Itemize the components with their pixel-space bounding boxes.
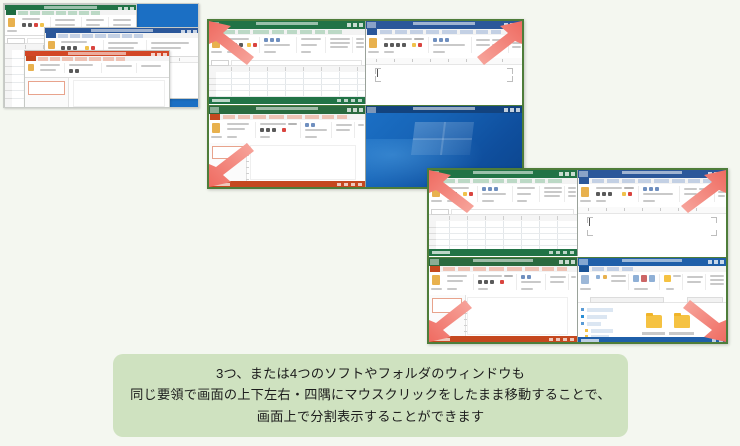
pin-to-quick-access-icon[interactable] (581, 275, 589, 284)
ppt-tab-insert[interactable] (458, 267, 470, 271)
font-name-field[interactable] (478, 275, 502, 277)
slide-editor[interactable] (73, 80, 165, 106)
font-color-icon[interactable] (282, 128, 286, 132)
word-page[interactable] (584, 214, 720, 254)
word-tab-review[interactable] (476, 30, 488, 34)
font-name-field[interactable] (384, 38, 412, 40)
ppt-tab-view[interactable] (557, 267, 567, 271)
screenshot-four-quadrant-explorer[interactable] (427, 168, 728, 344)
excel-tab-home[interactable] (443, 179, 455, 183)
font-color-icon[interactable] (34, 23, 38, 27)
excel-formula-bar[interactable] (209, 58, 365, 66)
insert-cell[interactable] (568, 187, 576, 189)
ppt-tab-transitions[interactable] (489, 267, 504, 271)
format-cell[interactable] (568, 195, 576, 197)
word-tab-design[interactable] (622, 179, 635, 183)
slides-group-label (447, 288, 457, 290)
cell-styles[interactable] (544, 195, 560, 197)
numbered-list-icon[interactable] (311, 123, 315, 127)
copy-path-button[interactable] (611, 275, 626, 277)
explorer-title-text (622, 259, 681, 262)
quadrant-bottom-left-powerpoint[interactable] (429, 257, 578, 343)
powerpoint-workspace[interactable] (429, 295, 577, 336)
view-controls[interactable] (337, 99, 362, 102)
numbered-list-icon[interactable] (527, 275, 531, 279)
excel-window-buttons[interactable] (559, 172, 575, 176)
paste-shortcut-button[interactable] (611, 280, 626, 282)
explorer-ribbon-body[interactable] (578, 272, 726, 294)
margin-corner-top-left (587, 217, 593, 223)
excel-tab-view[interactable] (535, 179, 545, 183)
format-as-table[interactable] (544, 191, 562, 193)
arrange-button[interactable] (336, 129, 350, 131)
explorer-tab-share[interactable] (607, 267, 619, 271)
select-button[interactable] (512, 46, 521, 48)
word-tab-home[interactable] (380, 30, 392, 34)
excel-tab-data[interactable] (287, 30, 297, 34)
bullet-list-icon[interactable] (305, 123, 309, 127)
italic-icon[interactable] (75, 69, 79, 73)
powerpoint-window-buttons[interactable] (559, 260, 575, 264)
bullet-list-icon[interactable] (433, 38, 437, 42)
shapes-gallery[interactable] (550, 276, 566, 278)
font-name-field[interactable] (61, 41, 87, 43)
quick-access-toolbar[interactable] (210, 107, 219, 113)
paste-icon[interactable] (432, 275, 440, 285)
align-center-icon[interactable] (270, 38, 274, 42)
excel-titlebar[interactable] (429, 170, 577, 178)
word-tab-insert[interactable] (395, 30, 407, 34)
folder-icon[interactable] (674, 315, 690, 328)
word-tab-mailings[interactable] (460, 30, 473, 34)
font-name-field[interactable] (260, 123, 286, 125)
quick-access-toolbar[interactable] (367, 22, 376, 28)
breadcrumb-path[interactable] (590, 297, 664, 303)
styles-row-2 (151, 47, 181, 49)
font-color-icon[interactable] (628, 192, 632, 196)
strikethrough-icon[interactable] (402, 43, 406, 47)
multilevel-list-icon[interactable] (445, 38, 449, 42)
shapes-gallery[interactable] (336, 124, 352, 126)
excel-tab-review[interactable] (520, 179, 532, 183)
fill-color-icon[interactable] (247, 43, 251, 47)
word-ruler[interactable] (366, 58, 522, 65)
style-heading2[interactable] (684, 193, 697, 195)
ppt-tab-design[interactable] (473, 267, 486, 271)
desktop-window-buttons[interactable] (504, 108, 520, 112)
delete-cell[interactable] (568, 191, 576, 193)
new-folder-icon[interactable] (664, 275, 671, 282)
alignment-row-2 (264, 44, 290, 46)
paste-icon[interactable] (603, 275, 607, 279)
italic-icon[interactable] (602, 192, 606, 196)
powerpoint-titlebar[interactable] (429, 258, 577, 266)
style-heading1[interactable] (699, 188, 712, 190)
onedrive-icon[interactable] (581, 315, 584, 318)
excel-ribbon-body[interactable] (429, 184, 577, 206)
replace-button[interactable] (512, 42, 521, 44)
underline-icon[interactable] (608, 192, 612, 196)
word-window-buttons[interactable] (708, 172, 724, 176)
ppt-tab-review[interactable] (542, 267, 554, 271)
excel-sheet[interactable] (209, 66, 365, 97)
font-name-field[interactable] (69, 64, 93, 66)
excel-tab-layout[interactable] (253, 30, 269, 34)
file-list-pane[interactable] (628, 303, 726, 337)
style-title[interactable] (699, 193, 712, 195)
word-tab-layout[interactable] (426, 30, 439, 34)
word-ribbon-body[interactable] (578, 184, 726, 206)
powerpoint-status-bar[interactable] (429, 336, 577, 343)
excel-grid[interactable] (436, 221, 577, 249)
font-color-icon[interactable] (418, 43, 422, 47)
excel-tab-insert[interactable] (238, 30, 250, 34)
word-tab-insert[interactable] (607, 179, 619, 183)
explorer-window-buttons[interactable] (708, 260, 724, 264)
style-normal[interactable] (476, 39, 490, 41)
word-tab-home[interactable] (592, 179, 604, 183)
slide-number-label (432, 338, 450, 341)
merge-cells-icon[interactable] (276, 38, 280, 42)
powerpoint-title-text (68, 52, 126, 55)
word-tab-review[interactable] (688, 179, 700, 183)
word-ruler[interactable] (578, 207, 726, 214)
explorer-tab-home[interactable] (592, 267, 604, 271)
formula-input[interactable] (451, 209, 574, 215)
margin-corner-top-right (507, 68, 513, 74)
nav-item-quick-access[interactable] (587, 308, 613, 312)
paragraph-row-2 (433, 44, 465, 46)
excel-tab-home[interactable] (223, 30, 235, 34)
cell-styles[interactable] (330, 46, 348, 48)
slide-thumbnail[interactable] (28, 81, 65, 95)
delete-cell[interactable] (356, 42, 364, 44)
caption-line-2: 同じ要領で画面の上下左右・四隅にマウスクリックをしたまま移動することで、 (130, 387, 611, 404)
this-pc-icon[interactable] (581, 322, 584, 325)
rename-icon[interactable] (649, 275, 655, 282)
underline-icon[interactable] (396, 43, 400, 47)
style-title[interactable] (492, 44, 506, 46)
insert-cell[interactable] (356, 38, 364, 40)
desktop-window-titlebar[interactable] (366, 106, 522, 113)
quick-access-icon[interactable] (581, 308, 584, 311)
paste-icon[interactable] (48, 41, 55, 49)
quadrant-top-left-excel[interactable] (209, 21, 366, 104)
italic-icon[interactable] (484, 280, 488, 284)
quick-access-toolbar[interactable] (430, 171, 439, 177)
font-color-icon[interactable] (253, 43, 257, 47)
paste-icon[interactable] (432, 187, 440, 197)
excel-tab-formulas[interactable] (492, 179, 504, 183)
excel-formula-bar[interactable] (429, 207, 577, 215)
numbered-list-icon[interactable] (649, 187, 653, 191)
underline-icon[interactable] (490, 280, 494, 284)
bold-icon[interactable] (22, 23, 26, 27)
underline-icon[interactable] (272, 128, 276, 132)
font-size-field[interactable] (504, 275, 513, 277)
excel-tab-data[interactable] (507, 179, 517, 183)
bold-icon[interactable] (69, 69, 73, 73)
powerpoint-workspace[interactable] (209, 143, 365, 181)
new-item-button[interactable] (673, 275, 681, 277)
word-page[interactable] (372, 65, 516, 102)
conditional-format[interactable] (544, 187, 562, 189)
slides-row-1 (40, 64, 60, 66)
format-as-table[interactable] (330, 42, 350, 44)
quick-access-toolbar[interactable] (579, 171, 588, 177)
bullet-list-icon[interactable] (643, 187, 647, 191)
ppt-tab-view[interactable] (337, 115, 347, 119)
font-size-field[interactable] (414, 38, 424, 40)
word-window-buttons[interactable] (504, 23, 520, 27)
highlight-icon[interactable] (622, 192, 626, 196)
style-normal[interactable] (684, 188, 697, 190)
ppt-tab-review[interactable] (322, 115, 334, 119)
number-format-field[interactable] (301, 38, 321, 40)
quadrant-top-left-excel[interactable] (429, 170, 578, 256)
view-controls[interactable] (337, 183, 362, 186)
quadrant-bottom-left-powerpoint[interactable] (209, 105, 366, 188)
ppt-tab-animations[interactable] (287, 115, 302, 119)
numbered-list-icon[interactable] (439, 38, 443, 42)
word-document-area[interactable] (366, 58, 522, 104)
paste-icon[interactable] (212, 123, 220, 133)
quadrant-top-right-word[interactable] (578, 170, 726, 256)
arrange-button[interactable] (550, 281, 564, 283)
excel-status-bar[interactable] (429, 249, 577, 256)
find-button[interactable] (571, 276, 576, 278)
quick-access-toolbar[interactable] (430, 259, 439, 265)
layout-button[interactable] (447, 280, 463, 282)
alignment-group-label (264, 51, 276, 53)
slide-thumbnail-pane[interactable] (429, 295, 466, 336)
italic-icon[interactable] (28, 23, 32, 27)
ppt-tab-home[interactable] (223, 115, 235, 119)
view-layout-buttons[interactable] (712, 339, 723, 342)
number-format-field[interactable] (86, 19, 104, 21)
powerpoint-window-buttons[interactable] (347, 108, 363, 112)
bold-icon[interactable] (384, 43, 388, 47)
ppt-tab-slideshow[interactable] (305, 115, 319, 119)
search-input[interactable] (687, 297, 723, 303)
style-heading1[interactable] (492, 39, 506, 41)
conditional-format[interactable] (330, 38, 350, 40)
open-button[interactable] (687, 281, 701, 283)
font-name-field[interactable] (227, 38, 249, 40)
word-tab-view[interactable] (703, 179, 713, 183)
paste-icon[interactable] (8, 18, 15, 27)
caption-box: 3つ、または4つのソフトやフォルダのウィンドウも 同じ要領で画面の上下左右・四隅… (113, 354, 628, 437)
slide-editor[interactable] (250, 145, 356, 181)
explorer-status-bar[interactable] (578, 337, 726, 343)
bullet-list-icon[interactable] (521, 275, 525, 279)
italic-icon[interactable] (453, 192, 457, 196)
slide-thumbnail[interactable] (432, 298, 462, 312)
explorer-tab-view[interactable] (622, 267, 633, 271)
slide-thumbnail-pane[interactable] (209, 143, 247, 181)
desktop-title-text (413, 107, 475, 110)
underline-icon[interactable] (239, 43, 243, 47)
word-titlebar[interactable] (366, 21, 522, 29)
replace-button[interactable] (718, 191, 725, 193)
powerpoint-ribbon-body[interactable] (25, 61, 169, 78)
paste-icon[interactable] (369, 38, 377, 48)
bold-icon[interactable] (227, 43, 231, 47)
name-box[interactable] (211, 60, 229, 66)
new-slide-button[interactable] (227, 123, 249, 125)
delete-icon[interactable] (641, 275, 647, 282)
excel-tab-view[interactable] (315, 30, 325, 34)
paste-icon[interactable] (212, 38, 220, 48)
word-titlebar[interactable] (578, 170, 726, 178)
number-format-field[interactable] (517, 187, 535, 189)
screenshot-overlapping-windows[interactable] (3, 3, 199, 108)
view-controls[interactable] (549, 251, 574, 254)
excel-tab-formulas[interactable] (272, 30, 284, 34)
italic-icon[interactable] (390, 43, 394, 47)
slide-thumbnail[interactable] (212, 146, 244, 159)
folder-icon[interactable] (585, 329, 588, 332)
formula-input[interactable] (231, 60, 362, 66)
word-title-text (622, 171, 681, 174)
excel-tab-review[interactable] (300, 30, 312, 34)
align-left-icon[interactable] (482, 187, 486, 191)
folder-icon[interactable] (646, 315, 662, 328)
excel-ribbon-body[interactable] (209, 35, 365, 57)
nav-item-onedrive[interactable] (587, 315, 607, 319)
name-box[interactable] (7, 38, 25, 44)
word-tab-references[interactable] (442, 30, 457, 34)
excel-tab-layout[interactable] (473, 179, 489, 183)
quick-access-toolbar[interactable] (579, 259, 588, 265)
properties-button[interactable] (687, 276, 703, 278)
new-slide-button[interactable] (447, 275, 467, 277)
quadrant-top-right-word[interactable] (366, 21, 522, 104)
screenshot-four-quadrant-desktop[interactable] (207, 19, 524, 189)
bold-icon[interactable] (447, 192, 451, 196)
number-row-2 (517, 193, 531, 195)
margin-corner-top-left (375, 68, 381, 74)
align-center-icon[interactable] (488, 187, 492, 191)
find-button[interactable] (358, 124, 364, 126)
font-size-field[interactable] (288, 123, 297, 125)
address-bar[interactable] (578, 295, 726, 303)
font-size-field[interactable] (624, 187, 634, 189)
select-button[interactable] (718, 195, 725, 197)
invert-selection-button[interactable] (710, 283, 724, 285)
align-left-icon[interactable] (264, 38, 268, 42)
margin-corner-bottom-left (375, 76, 381, 82)
excel-tab-help[interactable] (328, 30, 342, 34)
paragraph-row-2 (305, 129, 327, 131)
excel-titlebar[interactable] (209, 21, 365, 29)
paste-icon[interactable] (28, 64, 34, 71)
excel-window-buttons[interactable] (347, 23, 363, 27)
nav-item-this-pc[interactable] (587, 322, 601, 326)
italic-icon[interactable] (233, 43, 237, 47)
item-count-label (581, 339, 599, 342)
sheet-tab[interactable] (432, 251, 450, 254)
ppt-tab-insert[interactable] (238, 115, 250, 119)
word-tab-mailings[interactable] (672, 179, 685, 183)
fill-color-icon[interactable] (463, 192, 467, 196)
styles-row-1 (113, 19, 131, 21)
font-name-field[interactable] (596, 187, 622, 189)
word-tab-layout[interactable] (638, 179, 651, 183)
excel-tab-help[interactable] (548, 179, 562, 183)
bold-icon[interactable] (596, 192, 600, 196)
layout-button[interactable] (227, 128, 245, 130)
quadrant-bottom-right-explorer[interactable] (578, 257, 726, 343)
copy-icon[interactable] (596, 275, 600, 279)
powerpoint-status-bar[interactable] (209, 181, 365, 188)
merge-cells-icon[interactable] (494, 187, 498, 191)
clipboard-group-label (368, 51, 379, 53)
multilevel-list-icon[interactable] (655, 187, 659, 191)
excel-sheet[interactable] (429, 215, 577, 249)
name-box[interactable] (431, 209, 449, 215)
quick-access-toolbar[interactable] (210, 22, 219, 28)
word-ribbon-body[interactable] (366, 35, 522, 57)
excel-grid[interactable] (216, 72, 365, 97)
powerpoint-titlebar[interactable] (209, 106, 365, 114)
highlight-icon[interactable] (412, 43, 416, 47)
select-none-button[interactable] (710, 279, 724, 281)
explorer-titlebar[interactable] (578, 258, 726, 266)
bold-icon[interactable] (478, 280, 482, 284)
font-name-field[interactable] (22, 18, 40, 20)
excel-status-bar[interactable] (209, 97, 365, 104)
ppt-tab-design[interactable] (253, 115, 266, 119)
find-button[interactable] (512, 38, 521, 40)
slides-row-2 (40, 69, 56, 71)
word-tab-references[interactable] (654, 179, 669, 183)
slide-editor[interactable] (467, 297, 568, 336)
font-color-icon[interactable] (469, 192, 473, 196)
navigation-pane[interactable] (578, 303, 629, 337)
paragraph-row-1 (108, 42, 138, 44)
select-all-button[interactable] (710, 275, 724, 277)
explorer-body[interactable] (578, 303, 726, 337)
sheet-tab[interactable] (212, 99, 230, 102)
slide-thumbnail-pane[interactable] (25, 78, 69, 108)
ppt-tab-animations[interactable] (507, 267, 522, 271)
word-tab-design[interactable] (410, 30, 423, 34)
font-name-field[interactable] (447, 187, 469, 189)
powerpoint-workspace[interactable] (25, 78, 169, 108)
view-controls[interactable] (549, 338, 574, 341)
font-color-icon[interactable] (500, 280, 504, 284)
font-group-label (596, 200, 606, 202)
bold-icon[interactable] (260, 128, 264, 132)
italic-icon[interactable] (266, 128, 270, 132)
move-to-icon[interactable] (633, 275, 639, 282)
ppt-tab-home[interactable] (443, 267, 455, 271)
style-heading2[interactable] (476, 44, 490, 46)
excel-tab-insert[interactable] (458, 179, 470, 183)
word-document-area[interactable] (578, 207, 726, 256)
format-cell[interactable] (356, 46, 364, 48)
word-tab-view[interactable] (491, 30, 501, 34)
ppt-tab-transitions[interactable] (269, 115, 284, 119)
nav-item-desktop[interactable] (591, 329, 613, 333)
powerpoint-ribbon-body[interactable] (429, 272, 577, 294)
window-powerpoint[interactable] (24, 50, 170, 108)
ppt-tab-slideshow[interactable] (525, 267, 539, 271)
find-button[interactable] (718, 187, 725, 189)
paste-icon[interactable] (581, 187, 589, 197)
powerpoint-ribbon-body[interactable] (209, 120, 365, 142)
